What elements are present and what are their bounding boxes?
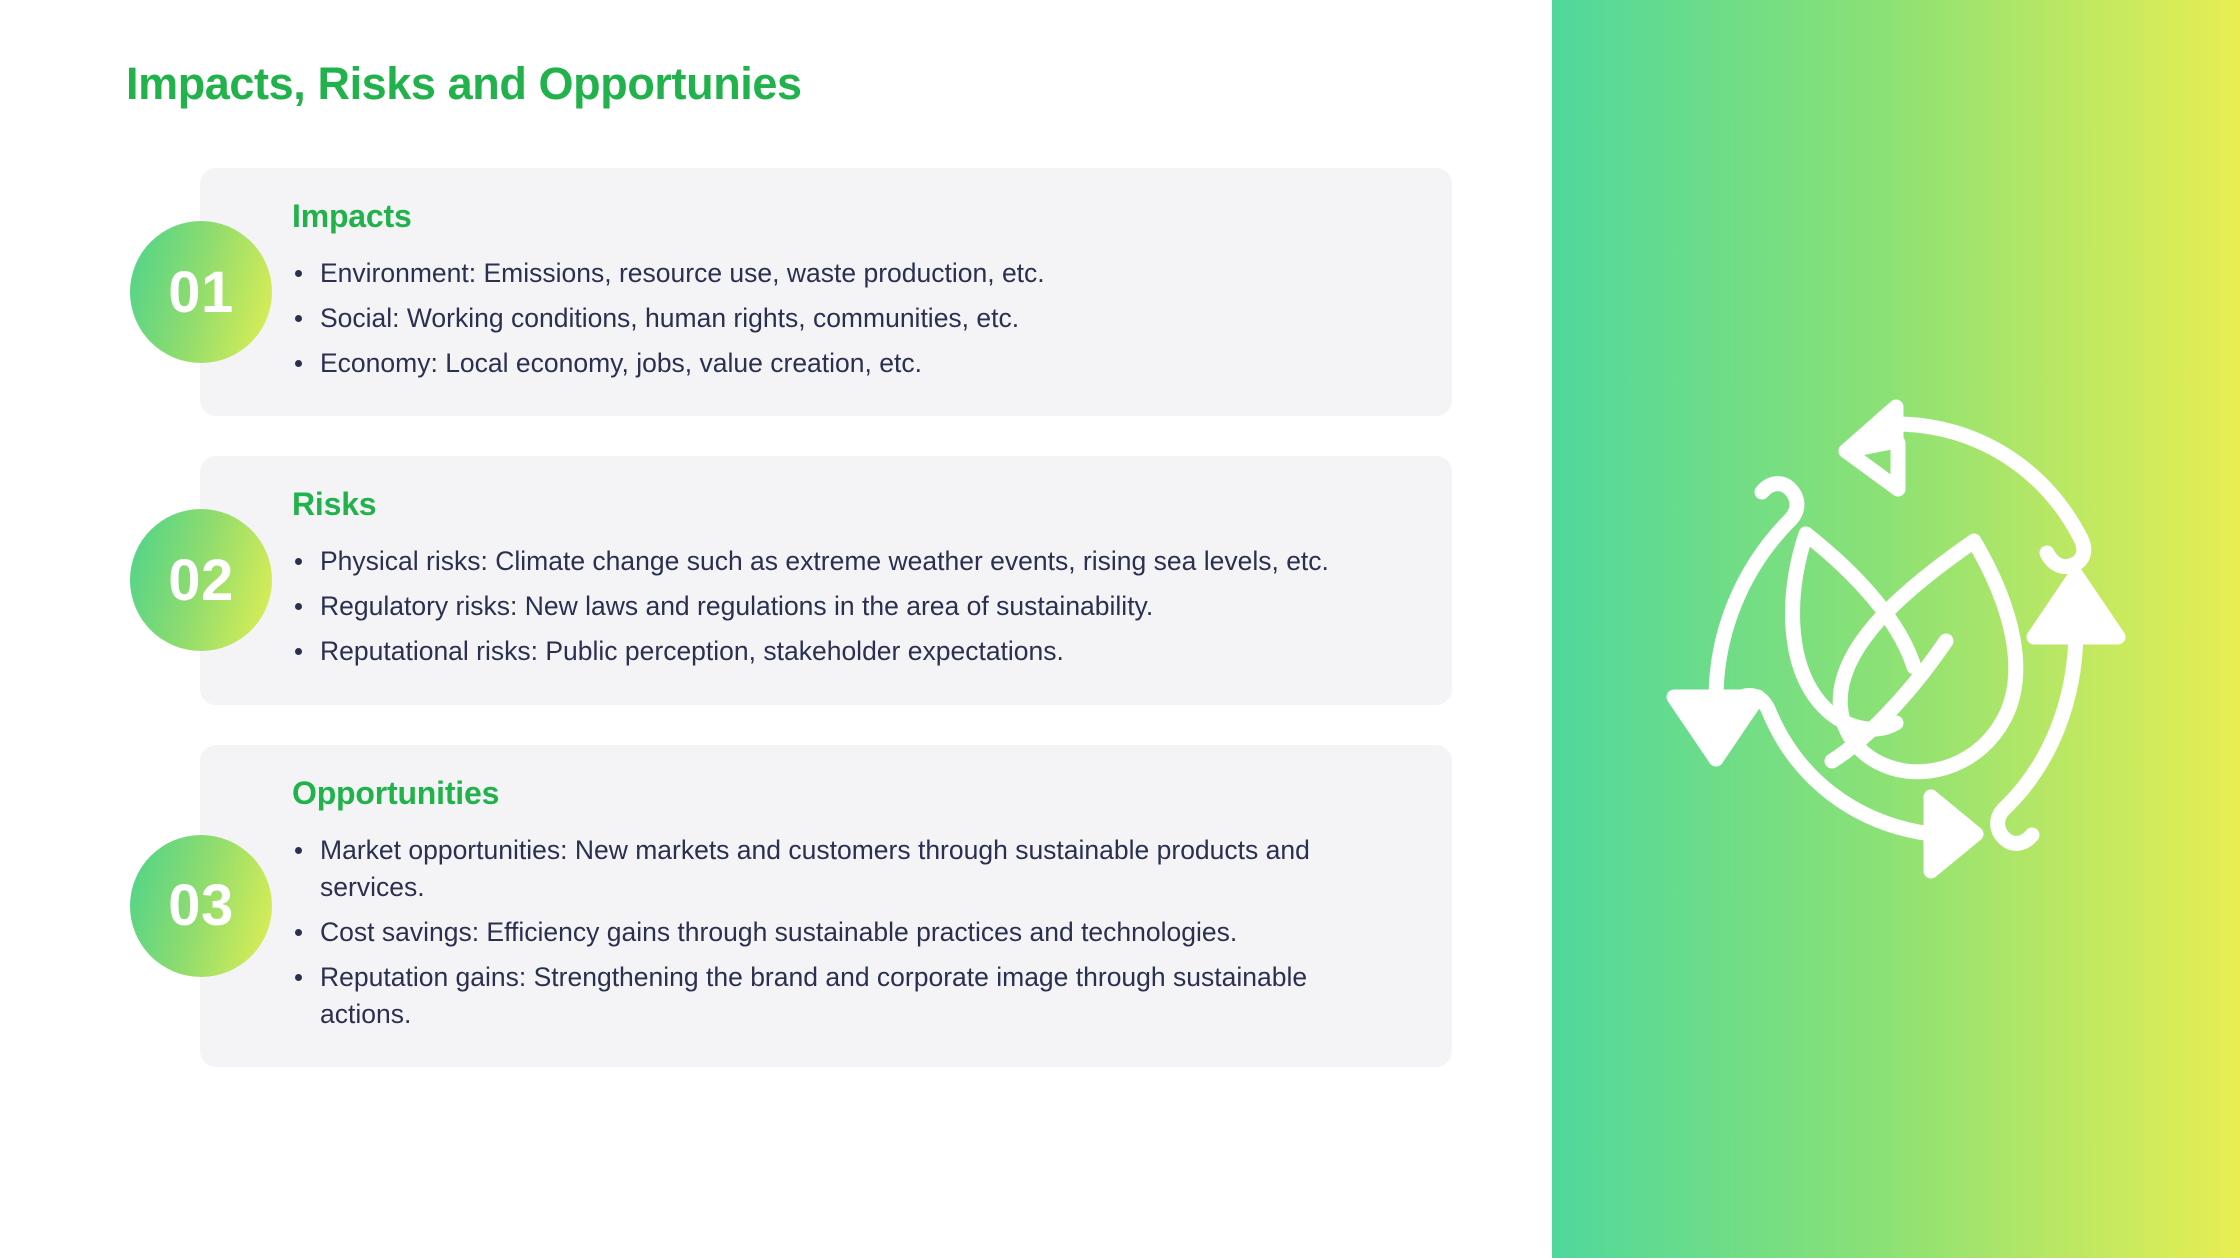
card-number-badge: 01	[130, 221, 272, 363]
illustration-pane	[1552, 0, 2240, 1258]
list-item: Economy: Local economy, jobs, value crea…	[292, 345, 1400, 382]
card-heading: Impacts	[292, 198, 1400, 235]
recycling-leaf-icon	[1646, 379, 2146, 879]
card-number-badge: 02	[130, 509, 272, 651]
list-item: Regulatory risks: New laws and regulatio…	[292, 588, 1400, 625]
card-impacts: 01 Impacts Environment: Emissions, resou…	[200, 168, 1452, 416]
list-item: Reputation gains: Strengthening the bran…	[292, 959, 1400, 1033]
card-heading: Risks	[292, 486, 1400, 523]
list-item: Social: Working conditions, human rights…	[292, 300, 1400, 337]
content-pane: Impacts, Risks and Opportunies 01 Impact…	[0, 0, 1552, 1260]
card-bullet-list: Physical risks: Climate change such as e…	[292, 543, 1400, 670]
card-heading: Opportunities	[292, 775, 1400, 812]
card-risks: 02 Risks Physical risks: Climate change …	[200, 456, 1452, 704]
card-bullet-list: Market opportunities: New markets and cu…	[292, 832, 1400, 1033]
list-item: Physical risks: Climate change such as e…	[292, 543, 1400, 580]
list-item: Market opportunities: New markets and cu…	[292, 832, 1400, 906]
page-title: Impacts, Risks and Opportunies	[126, 58, 802, 110]
list-item: Cost savings: Efficiency gains through s…	[292, 914, 1400, 951]
slide-root: Impacts, Risks and Opportunies 01 Impact…	[0, 0, 2240, 1260]
card-bullet-list: Environment: Emissions, resource use, wa…	[292, 255, 1400, 382]
list-item: Reputational risks: Public perception, s…	[292, 633, 1400, 670]
card-list: 01 Impacts Environment: Emissions, resou…	[200, 168, 1452, 1107]
list-item: Environment: Emissions, resource use, wa…	[292, 255, 1400, 292]
card-opportunities: 03 Opportunities Market opportunities: N…	[200, 745, 1452, 1067]
card-number-badge: 03	[130, 835, 272, 977]
